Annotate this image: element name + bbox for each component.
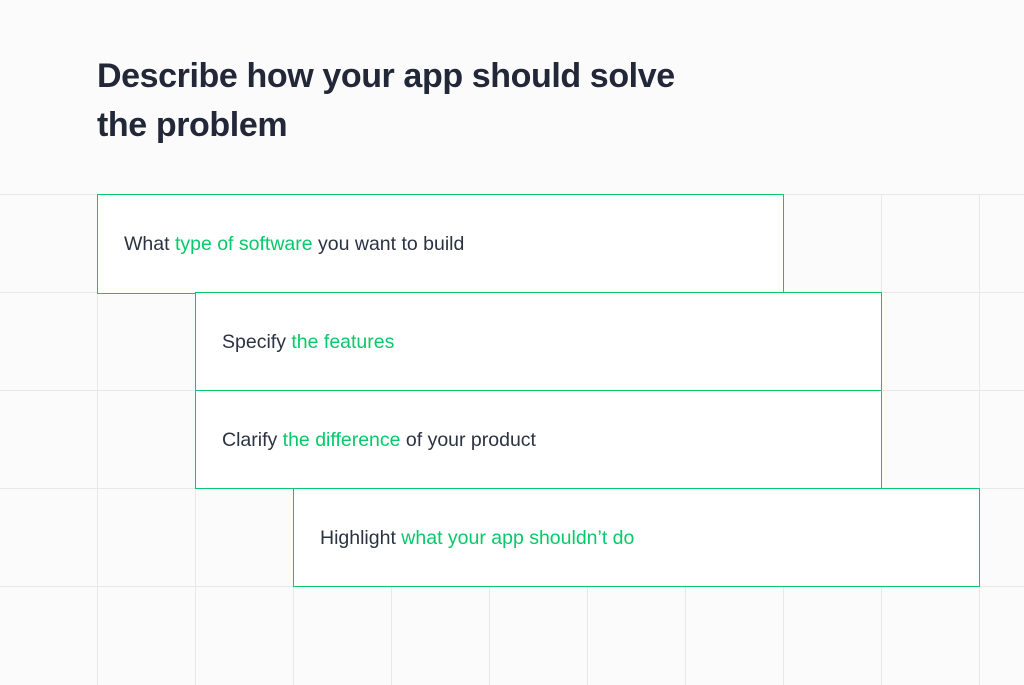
step-card-4-lead: Highlight [320,527,401,549]
step-card-3-lead: Clarify [222,429,283,451]
step-card-1[interactable]: What type of software you want to build [97,194,784,294]
step-card-1-text: What type of software you want to build [98,231,482,257]
step-card-2-lead: Specify [222,331,291,353]
step-card-3-text: Clarify the difference of your product [196,427,554,453]
step-card-4-text: Highlight what your app shouldn’t do [294,525,652,551]
step-card-2[interactable]: Specify the features [195,292,882,391]
step-cards-list: What type of software you want to build … [0,0,1024,685]
step-card-3-highlight: the difference [283,429,401,451]
step-card-3-trail: of your product [400,429,536,451]
step-card-4[interactable]: Highlight what your app shouldn’t do [293,488,980,587]
step-card-2-highlight: the features [291,331,394,353]
step-card-2-text: Specify the features [196,329,412,355]
step-card-1-highlight: type of software [175,233,313,255]
step-card-3[interactable]: Clarify the difference of your product [195,390,882,489]
step-card-4-highlight: what your app shouldn’t do [401,527,634,549]
step-card-1-lead: What [124,233,175,255]
step-card-1-trail: you want to build [313,233,465,255]
